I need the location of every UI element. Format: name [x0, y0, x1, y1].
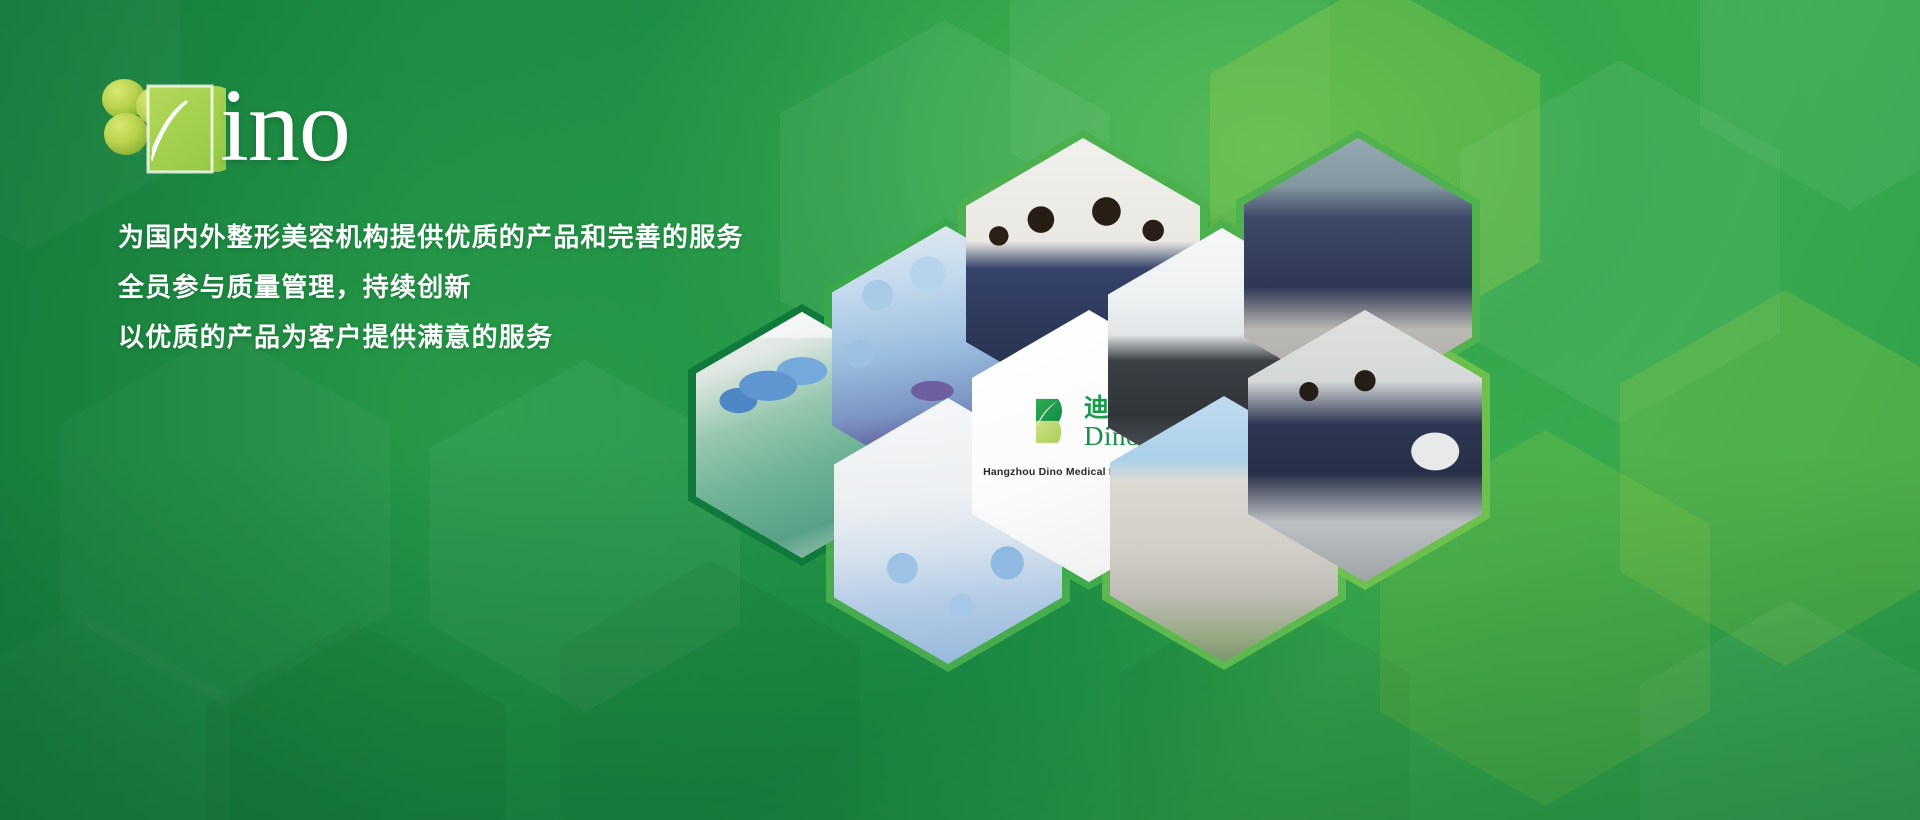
hero-banner: ino 为国内外整形美容机构提供优质的产品和完善的服务 全员参与质量管理，持续创…: [0, 0, 1920, 820]
brand-logo[interactable]: ino: [92, 68, 422, 178]
brand-d-mark-icon: [140, 84, 226, 174]
dino-leaf-mark-icon: [1032, 397, 1076, 445]
photo-hexagon-cluster: 迪诺® Dino Hangzhou Dino Medical Instrumen…: [640, 70, 1920, 630]
brand-wordmark: ino: [220, 74, 350, 178]
